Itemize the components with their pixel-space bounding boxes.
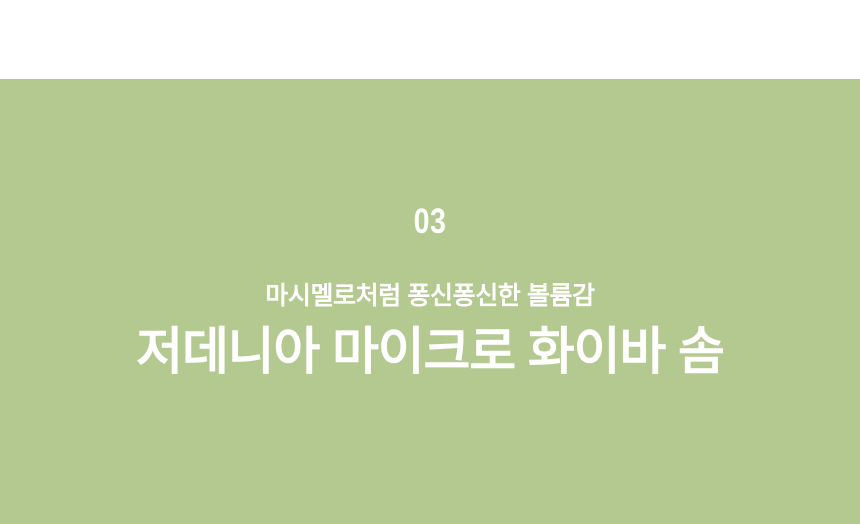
top-white-spacer [0,0,860,79]
step-number: 03 [414,204,447,239]
hero-content: 03 마시멜로처럼 퐁신퐁신한 볼륨감 저데니아 마이크로 화이바 솜 [0,79,860,524]
banner-page: 03 마시멜로처럼 퐁신퐁신한 볼륨감 저데니아 마이크로 화이바 솜 [0,0,860,524]
hero-headline: 저데니아 마이크로 화이바 솜 [136,323,724,382]
hero-subtitle: 마시멜로처럼 퐁신퐁신한 볼륨감 [265,281,595,311]
hero-panel: 03 마시멜로처럼 퐁신퐁신한 볼륨감 저데니아 마이크로 화이바 솜 [0,79,860,524]
